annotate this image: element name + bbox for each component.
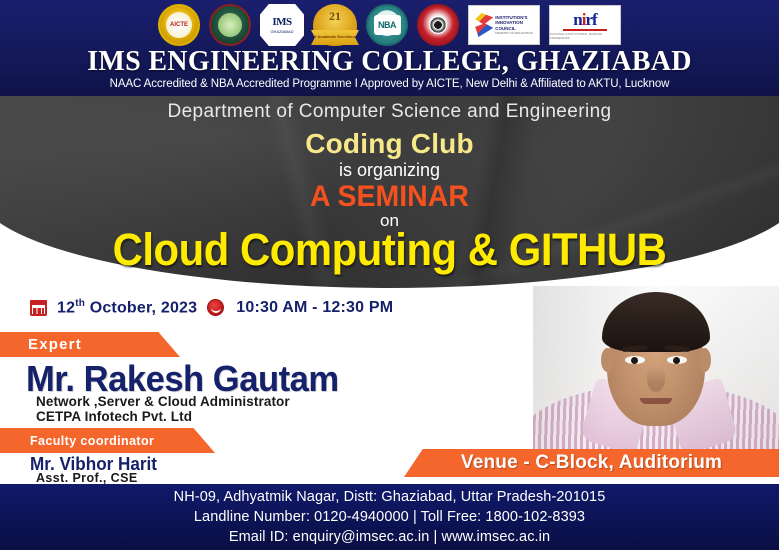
expert-ribbon-label: Expert: [28, 336, 82, 353]
poster-footer: NH-09, Adhyatmik Nagar, Distt: Ghaziabad…: [0, 484, 779, 550]
nirf-underline: [563, 29, 607, 31]
poster-header: AICTE IMS GHAZIABAD Estd. 2002 21 Of Aca…: [0, 0, 779, 96]
department-title: Department of Computer Science and Engin…: [0, 101, 779, 123]
aicte-logo-label: AICTE: [166, 12, 192, 38]
nirf-text-c: rf: [585, 10, 596, 29]
photo-shading: [533, 286, 779, 470]
nirf-sub: NATIONAL INSTITUTIONAL RANKING FRAMEWORK: [550, 32, 620, 40]
college-name: IMS ENGINEERING COLLEGE, GHAZIABAD: [0, 46, 779, 78]
ims-society-logo: [209, 4, 251, 46]
faculty-ribbon-label: Faculty coordinator: [30, 434, 154, 448]
expert-photo: [533, 286, 779, 470]
iic-mark-icon: [475, 13, 493, 37]
naac-logo: [417, 4, 459, 46]
accreditation-logo-row: AICTE IMS GHAZIABAD Estd. 2002 21 Of Aca…: [0, 3, 779, 47]
seminar-date: 12th October, 2023: [57, 298, 197, 317]
nba-logo-label: NBA: [374, 15, 401, 35]
footer-address: NH-09, Adhyatmik Nagar, Distt: Ghaziabad…: [174, 488, 606, 506]
seminar-time: 10:30 AM - 12:30 PM: [236, 299, 393, 317]
seminar-topic: Cloud Computing & GITHUB: [27, 224, 751, 276]
calendar-icon: [30, 300, 47, 316]
accreditation-text: NAAC Accredited & NBA Accredited Program…: [0, 78, 779, 90]
organizing-text: is organizing: [0, 160, 779, 181]
venue-banner: Venue - C-Block, Auditorium: [404, 449, 779, 477]
iic-sub: MINISTRY OF EDUCATION: [495, 32, 533, 36]
schedule-row: 12th October, 2023 10:30 AM - 12:30 PM: [30, 298, 393, 317]
expert-ribbon: Expert: [0, 332, 180, 357]
ims-college-logo: IMS GHAZIABAD Estd. 2002: [260, 4, 304, 46]
seminar-date-rest: October, 2023: [85, 299, 197, 316]
event-type: A SEMINAR: [19, 180, 759, 214]
faculty-coordinator-ribbon: Faculty coordinator: [0, 428, 215, 453]
21-years-academic-excellence-logo: 21 Of Academic Excellence: [313, 4, 357, 46]
venue-label: Venue - C-Block, Auditorium: [461, 452, 722, 474]
faculty-role: Asst. Prof., CSE: [36, 471, 138, 485]
seminar-date-day: 12: [57, 299, 75, 316]
years-ribbon-label: Of Academic Excellence: [311, 30, 359, 45]
expert-organization: CETPA Infotech Pvt. Ltd: [36, 409, 192, 424]
ims-logo-label: IMS: [272, 16, 291, 28]
seminar-poster: AICTE IMS GHAZIABAD Estd. 2002 21 Of Aca…: [0, 0, 779, 550]
expert-role: Network ,Server & Cloud Administrator: [36, 394, 290, 409]
clock-icon: [207, 299, 224, 316]
nirf-text-a: n: [573, 10, 581, 29]
nba-logo: NBA: [366, 4, 408, 46]
years-number: 21: [329, 9, 341, 24]
aicte-logo: AICTE: [158, 4, 200, 46]
institutions-innovation-council-logo: INSTITUTION'S INNOVATION COUNCIL MINISTR…: [468, 5, 540, 45]
ims-logo-sublabel: GHAZIABAD: [270, 29, 293, 34]
seminar-date-suffix: th: [75, 298, 85, 309]
nirf-logo: nirf NATIONAL INSTITUTIONAL RANKING FRAM…: [549, 5, 621, 45]
footer-phone: Landline Number: 0120-4940000 | Toll Fre…: [194, 508, 585, 526]
club-name: Coding Club: [0, 128, 779, 160]
footer-email: Email ID: enquiry@imsec.ac.in | www.imse…: [229, 528, 550, 546]
